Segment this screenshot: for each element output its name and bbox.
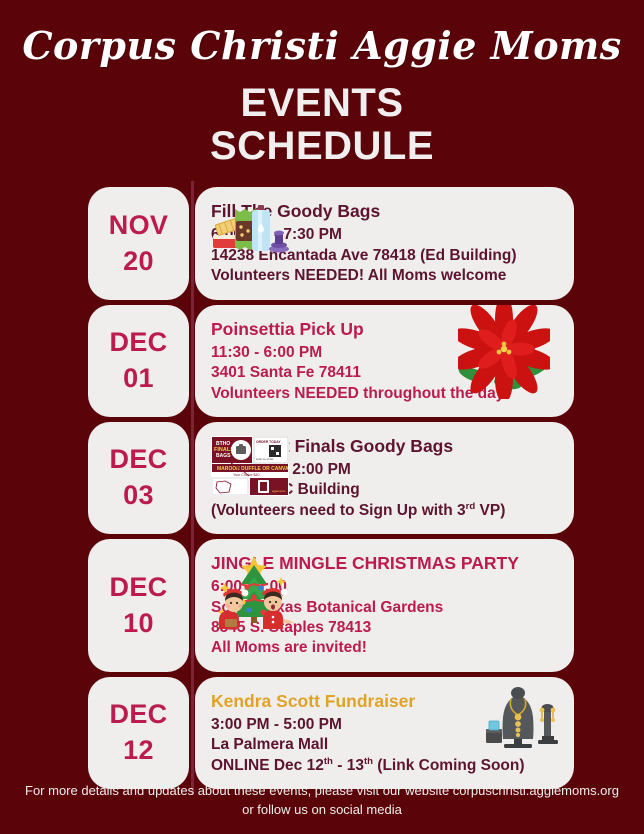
event-detail-line: 11:30 - 6:00 PM: [211, 343, 558, 363]
event-detail-line: TAMU MSC Building: [211, 480, 558, 500]
event-day: 03: [123, 478, 154, 514]
event-detail-line: 3401 Santa Fe 78411: [211, 363, 558, 383]
event-day: 01: [123, 361, 154, 397]
event-detail-line: La Palmera Mall: [211, 735, 558, 755]
event-title: Poinsettia Pick Up: [211, 319, 558, 341]
event-detail-line: Volunteers NEEDED throughout the day: [211, 384, 558, 404]
event-month: DEC: [110, 325, 168, 361]
event-details-card: Kendra Scott Fundraiser3:00 PM - 5:00 PM…: [195, 677, 574, 789]
event-row: DEC12: [88, 677, 574, 789]
events-schedule-list: NOV20: [0, 187, 644, 789]
event-month: DEC: [110, 442, 168, 478]
event-detail-line: South Texas Botanical Gardens: [211, 598, 558, 618]
event-row: DEC03 BTHO FINALS BAGS ORDER TODAY scan …: [88, 422, 574, 534]
event-detail-line: 8545 S. Staples 78413: [211, 618, 558, 638]
event-title: Hand Out Finals Goody Bags: [211, 436, 558, 458]
event-row: DEC10: [88, 539, 574, 672]
event-day: 10: [123, 606, 154, 642]
events-heading-line-1: EVENTS: [240, 81, 403, 125]
footer-line-2: or follow us on social media: [14, 801, 630, 820]
event-date-card: NOV20: [88, 187, 189, 299]
event-day: 20: [123, 244, 154, 280]
event-title: Fill The Goody Bags: [211, 201, 558, 223]
event-month: DEC: [110, 697, 168, 733]
event-details-card: Fill The Goody Bags6:00 PM - 7:30 PM1423…: [195, 187, 574, 299]
event-detail-line: Volunteers NEEDED! All Moms welcome: [211, 266, 558, 286]
event-date-card: DEC12: [88, 677, 189, 789]
page-title: EVENTS SCHEDULE: [0, 82, 644, 168]
event-month: NOV: [109, 208, 168, 244]
event-details-card: JINGLE MINGLE CHRISTMAS PARTY6:00 - 8:00…: [195, 539, 574, 672]
event-detail-line: All Moms are invited!: [211, 638, 558, 658]
event-title: JINGLE MINGLE CHRISTMAS PARTY: [211, 553, 558, 575]
event-date-card: DEC01: [88, 305, 189, 417]
event-month: DEC: [110, 570, 168, 606]
flyer-page: { "header": { "org_title": "Corpus Chris…: [0, 0, 644, 834]
event-detail-line: 3:00 PM - 5:00 PM: [211, 715, 558, 735]
flyer-header: Corpus Christi Aggie Moms EVENTS SCHEDUL…: [0, 0, 644, 167]
event-detail-line: (Volunteers need to Sign Up with 3rd VP): [211, 501, 558, 521]
event-date-card: DEC10: [88, 539, 189, 672]
event-row: NOV20: [88, 187, 574, 299]
event-details-card: BTHO FINALS BAGS ORDER TODAY scan to ord…: [195, 422, 574, 534]
event-detail-line: 6:00 PM - 7:30 PM: [211, 225, 558, 245]
event-detail-line: 14238 Encantada Ave 78418 (Ed Building): [211, 246, 558, 266]
event-row: DEC01: [88, 305, 574, 417]
event-detail-line: 6:00 - 8:00: [211, 577, 558, 597]
event-day: 12: [123, 733, 154, 769]
event-date-card: DEC03: [88, 422, 189, 534]
event-title: Kendra Scott Fundraiser: [211, 691, 558, 713]
event-detail-line: ONLINE Dec 12th - 13th (Link Coming Soon…: [211, 756, 558, 776]
event-details-card: Poinsettia Pick Up11:30 - 6:00 PM3401 Sa…: [195, 305, 574, 417]
organization-title: Corpus Christi Aggie Moms: [0, 26, 644, 66]
events-heading-line-2: SCHEDULE: [0, 125, 644, 168]
event-detail-line: 10:00 AM - 2:00 PM: [211, 460, 558, 480]
